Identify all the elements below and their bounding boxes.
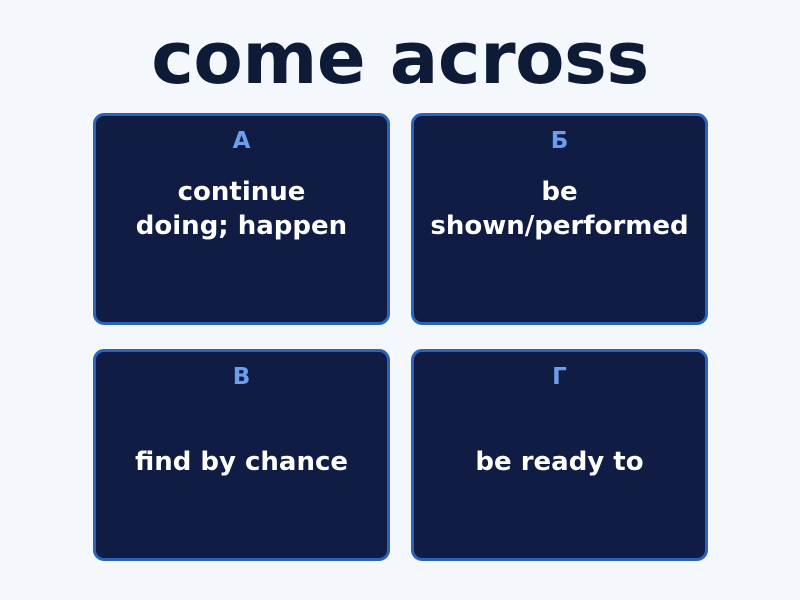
answer-options-grid: А continue doing; happen Б be shown/perf…	[93, 113, 708, 561]
answer-option-b[interactable]: Б be shown/performed	[411, 113, 708, 325]
answer-option-g[interactable]: Г be ready to	[411, 349, 708, 561]
answer-text-a: continue doing; happen	[96, 175, 387, 243]
answer-text-g: be ready to	[414, 445, 705, 479]
answer-option-a[interactable]: А continue doing; happen	[93, 113, 390, 325]
answer-option-v[interactable]: В find by chance	[93, 349, 390, 561]
answer-letter-b: Б	[551, 130, 569, 153]
question-prompt: come across	[0, 0, 800, 94]
answer-text-v: find by chance	[96, 445, 387, 479]
answer-letter-v: В	[233, 366, 251, 389]
answer-letter-g: Г	[552, 366, 567, 389]
answer-letter-a: А	[233, 130, 251, 153]
answer-text-b: be shown/performed	[414, 175, 705, 243]
quiz-stage: come across А continue doing; happen Б b…	[0, 0, 800, 600]
